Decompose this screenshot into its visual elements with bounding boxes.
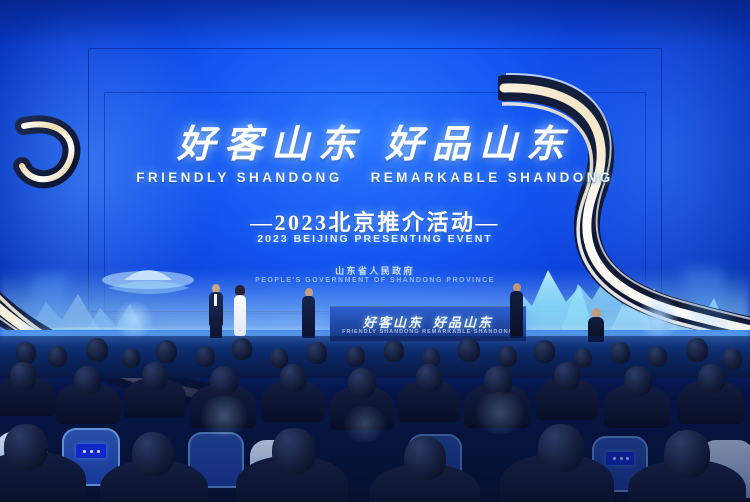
- audience-head: [534, 340, 555, 363]
- audience-head-front: [538, 424, 584, 472]
- main-title-en-left: FRIENDLY SHANDONG: [136, 170, 342, 185]
- audience-head-front: [272, 428, 316, 474]
- main-title-en-right: REMARKABLE SHANDONG: [371, 170, 614, 185]
- speaker-suit: [302, 296, 315, 338]
- audience-head: [610, 342, 630, 364]
- backdrop-top-shade: [0, 0, 750, 46]
- male-host-shirt: [214, 294, 217, 306]
- chair-placard: [606, 452, 634, 465]
- audience-head: [74, 366, 101, 395]
- audience-head: [722, 348, 742, 370]
- stage-glow-left: [114, 300, 154, 340]
- audience-head: [458, 338, 480, 362]
- audience-head: [86, 338, 108, 362]
- audience-head: [574, 348, 592, 368]
- main-title-block: 好客山东好品山东 FRIENDLY SHANDONGREMARKABLE SHA…: [0, 126, 750, 185]
- stage-person-attendant-left-of-screen: [508, 283, 525, 338]
- audience-head: [624, 366, 652, 396]
- organizer-name-cn: 山东省人民政府: [0, 264, 750, 277]
- audience-head-front: [664, 430, 710, 478]
- main-title-en: FRIENDLY SHANDONGREMARKABLE SHANDONG: [0, 170, 750, 185]
- audience-head: [648, 346, 667, 367]
- audience-head: [384, 340, 404, 362]
- audience-head: [280, 364, 306, 392]
- audience-head: [16, 342, 36, 364]
- audience-head-front: [132, 432, 174, 476]
- stage-glow-right: [636, 296, 680, 340]
- audience-head: [48, 346, 67, 367]
- podium-cn-right: 好品山东: [433, 315, 493, 330]
- stage-person-speaker: [300, 288, 317, 338]
- audience-head: [196, 346, 215, 367]
- audience-rim-light: [470, 392, 530, 434]
- event-photo-scene: 好客山东好品山东 FRIENDLY SHANDONGREMARKABLE SHA…: [0, 0, 750, 502]
- audience-head: [10, 362, 36, 390]
- audience-head: [232, 338, 252, 360]
- stage-person-male-host: [207, 284, 225, 338]
- audience-area: [0, 336, 750, 502]
- audience-head: [306, 342, 327, 364]
- chair-placard: [76, 444, 106, 458]
- audience-rim-light: [340, 406, 390, 442]
- audience-rim-light: [196, 396, 252, 436]
- audience-head: [142, 362, 168, 390]
- audience-head: [698, 364, 725, 393]
- audience-head: [348, 368, 376, 398]
- main-title-cn: 好客山东好品山东: [0, 126, 750, 166]
- audience-head-front: [4, 424, 48, 470]
- main-title-cn-left: 好客山东: [177, 124, 365, 166]
- event-subtitle-en: 2023 BEIJING PRESENTING EVENT: [0, 233, 750, 245]
- audience-head: [554, 362, 580, 390]
- organizer-name-en: PEOPLE'S GOVERNMENT OF SHANDONG PROVINCE: [0, 277, 750, 284]
- audience-head-front: [404, 436, 446, 480]
- stage-person-female-host: [231, 286, 249, 338]
- audience-head: [498, 346, 517, 367]
- audience-head: [122, 348, 140, 368]
- female-host-dress: [234, 295, 246, 336]
- main-title-cn-right: 好品山东: [385, 124, 573, 166]
- audience-head: [416, 364, 442, 392]
- podium-text-en: FRIENDLY SHANDONG REMARKABLE SHANDONG: [330, 329, 526, 335]
- audience-head: [346, 346, 365, 367]
- podium-cn-left: 好客山东: [363, 315, 423, 330]
- attendant-suit: [510, 291, 523, 338]
- audience-head: [686, 338, 708, 362]
- audience-head: [156, 340, 177, 363]
- audience-head: [210, 366, 238, 396]
